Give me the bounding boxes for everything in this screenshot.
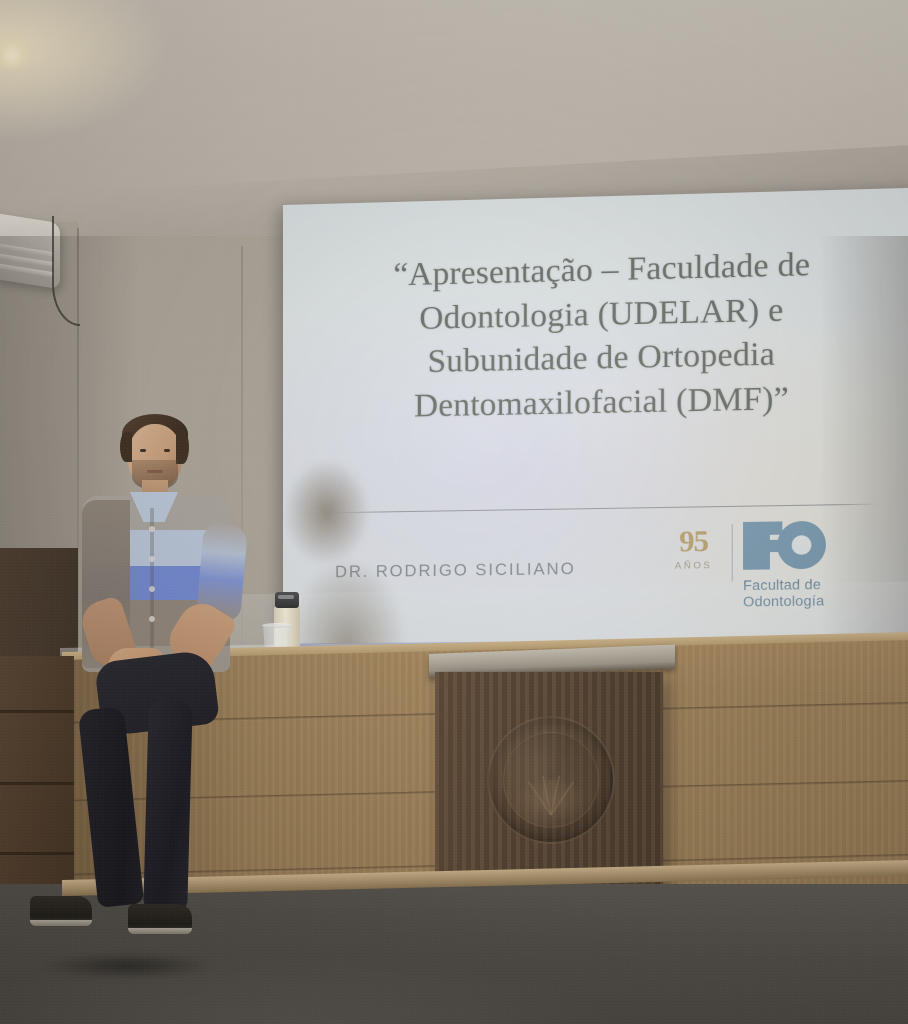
cup-rim [262, 623, 292, 628]
presenter-eye-left [140, 449, 146, 452]
shirt-button-3 [149, 586, 155, 592]
presenter-hair-right [176, 430, 189, 464]
presenter-front-leg [143, 699, 192, 910]
shirt-button-4 [149, 616, 155, 622]
shirt-button-2 [149, 556, 155, 562]
presenter-shoe-right-sole [128, 928, 192, 934]
shirt-button-1 [149, 526, 155, 532]
presenter [24, 404, 244, 964]
presenter-shoe-left-sole [30, 920, 92, 926]
university-crest-carving [487, 716, 615, 844]
presenter-mouth [147, 470, 163, 473]
flask-lid-highlight [278, 595, 294, 599]
photo-scene: Conference room with projection screen, … [0, 0, 908, 1024]
presenter-eye-right [164, 449, 170, 452]
presenter-hair-left [120, 432, 132, 462]
presenter-trousers [68, 656, 216, 900]
presenter-back-leg [78, 706, 144, 908]
